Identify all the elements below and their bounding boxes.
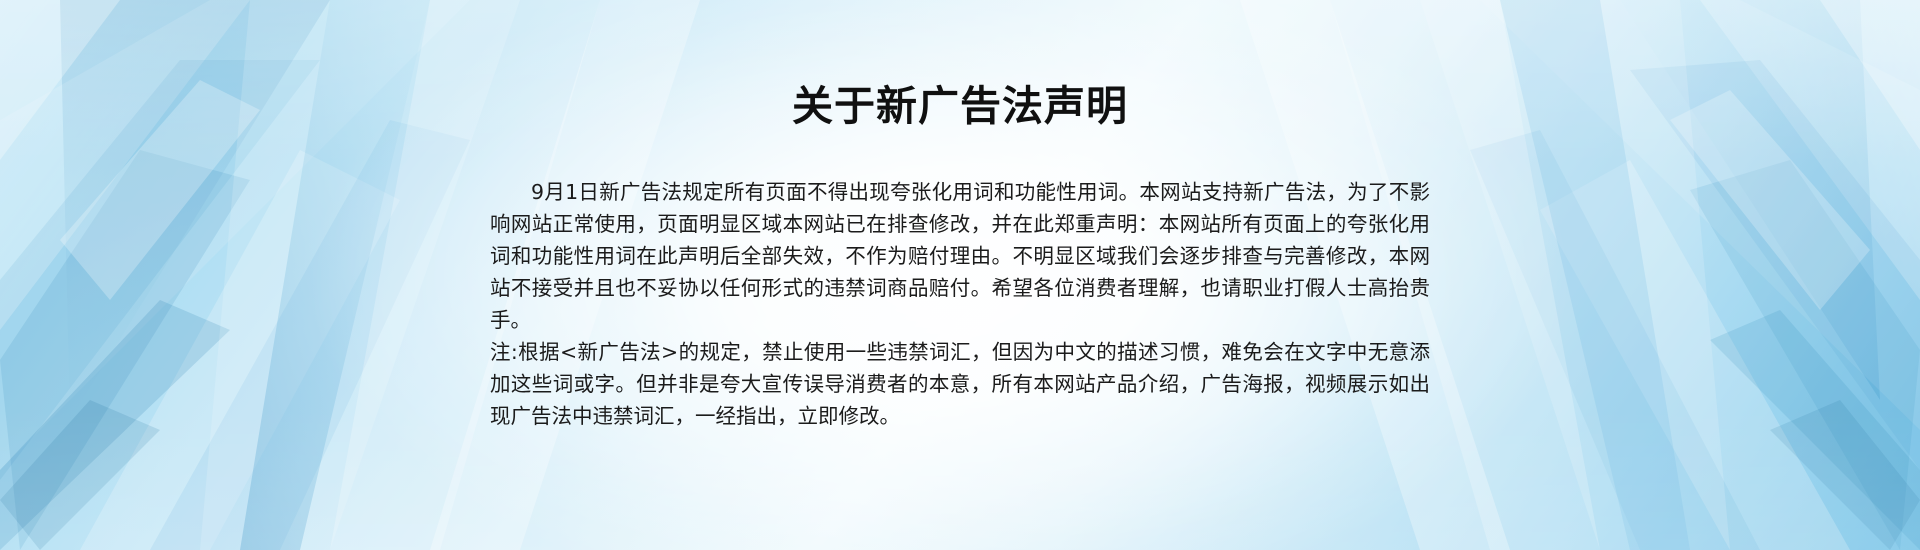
announcement-banner: 关于新广告法声明 9月1日新广告法规定所有页面不得出现夸张化用词和功能性用词。本… [0, 0, 1920, 550]
announcement-paragraph: 9月1日新广告法规定所有页面不得出现夸张化用词和功能性用词。本网站支持新广告法，… [490, 176, 1430, 336]
announcement-note-paragraph: 注:根据<新广告法>的规定，禁止使用一些违禁词汇，但因为中文的描述习惯，难免会在… [490, 336, 1430, 432]
page-title: 关于新广告法声明 [0, 82, 1920, 131]
banner-content: 关于新广告法声明 9月1日新广告法规定所有页面不得出现夸张化用词和功能性用词。本… [0, 0, 1920, 550]
announcement-body: 9月1日新广告法规定所有页面不得出现夸张化用词和功能性用词。本网站支持新广告法，… [490, 176, 1430, 432]
